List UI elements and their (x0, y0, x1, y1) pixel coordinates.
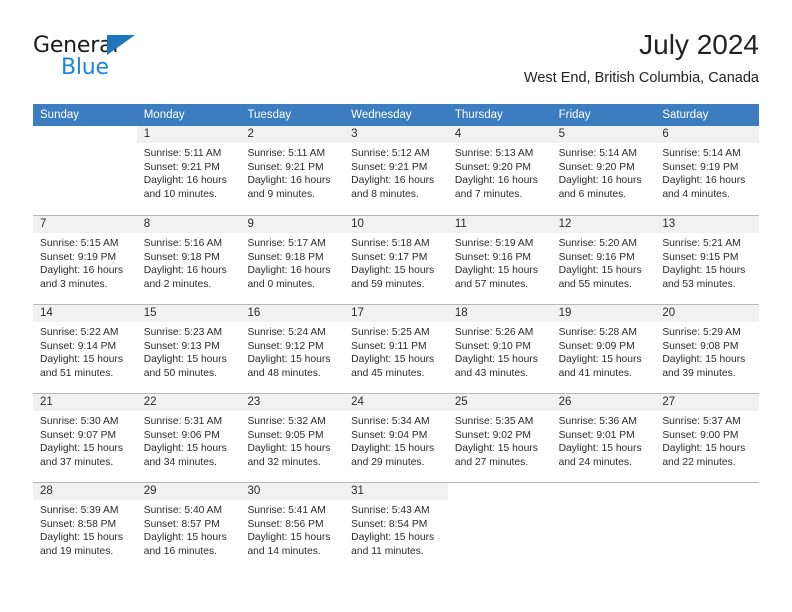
sunset-text: Sunset: 9:16 PM (559, 251, 650, 265)
day-number-band: 30 (240, 483, 344, 500)
day-sun-info: Sunrise: 5:21 AMSunset: 9:15 PMDaylight:… (655, 233, 759, 291)
day-number-band: 1 (137, 126, 241, 143)
daylight-text-line2: and 39 minutes. (662, 367, 753, 381)
day-sun-info: Sunrise: 5:39 AMSunset: 8:58 PMDaylight:… (33, 500, 137, 558)
day-sun-info: Sunrise: 5:34 AMSunset: 9:04 PMDaylight:… (344, 411, 448, 469)
daylight-text-line1: Daylight: 15 hours (40, 531, 131, 545)
day-sun-info: Sunrise: 5:14 AMSunset: 9:20 PMDaylight:… (552, 143, 656, 201)
calendar-page: General Blue July 2024 West End, British… (0, 0, 792, 612)
calendar-weeks: 1Sunrise: 5:11 AMSunset: 9:21 PMDaylight… (33, 126, 759, 571)
calendar-day-cell[interactable]: 29Sunrise: 5:40 AMSunset: 8:57 PMDayligh… (137, 483, 241, 571)
day-sun-info: Sunrise: 5:29 AMSunset: 9:08 PMDaylight:… (655, 322, 759, 380)
sunset-text: Sunset: 9:21 PM (247, 161, 338, 175)
calendar-day-cell[interactable]: 2Sunrise: 5:11 AMSunset: 9:21 PMDaylight… (240, 126, 344, 215)
sunset-text: Sunset: 9:18 PM (144, 251, 235, 265)
day-number: 17 (344, 305, 448, 322)
daylight-text-line2: and 50 minutes. (144, 367, 235, 381)
day-number-band: 11 (448, 216, 552, 233)
daylight-text-line2: and 34 minutes. (144, 456, 235, 470)
day-sun-info: Sunrise: 5:24 AMSunset: 9:12 PMDaylight:… (240, 322, 344, 380)
sunrise-text: Sunrise: 5:39 AM (40, 504, 131, 518)
daylight-text-line2: and 45 minutes. (351, 367, 442, 381)
weekday-header-row: Sunday Monday Tuesday Wednesday Thursday… (33, 104, 759, 126)
daylight-text-line2: and 51 minutes. (40, 367, 131, 381)
calendar-day-cell[interactable]: 1Sunrise: 5:11 AMSunset: 9:21 PMDaylight… (137, 126, 241, 215)
sunset-text: Sunset: 8:54 PM (351, 518, 442, 532)
day-number: 9 (240, 216, 344, 233)
calendar-day-cell[interactable]: 23Sunrise: 5:32 AMSunset: 9:05 PMDayligh… (240, 394, 344, 482)
day-number: 12 (552, 216, 656, 233)
day-number: 10 (344, 216, 448, 233)
day-number: 3 (344, 126, 448, 143)
daylight-text-line1: Daylight: 16 hours (247, 174, 338, 188)
day-number-band: 6 (655, 126, 759, 143)
day-number-band: 19 (552, 305, 656, 322)
logo-triangle-icon (107, 35, 135, 55)
day-number: 16 (240, 305, 344, 322)
calendar-day-cell[interactable]: 30Sunrise: 5:41 AMSunset: 8:56 PMDayligh… (240, 483, 344, 571)
sunset-text: Sunset: 9:06 PM (144, 429, 235, 443)
daylight-text-line2: and 2 minutes. (144, 278, 235, 292)
sunset-text: Sunset: 9:11 PM (351, 340, 442, 354)
daylight-text-line2: and 27 minutes. (455, 456, 546, 470)
day-number: 30 (240, 483, 344, 500)
daylight-text-line1: Daylight: 15 hours (351, 531, 442, 545)
daylight-text-line2: and 55 minutes. (559, 278, 650, 292)
daylight-text-line2: and 37 minutes. (40, 456, 131, 470)
sunset-text: Sunset: 9:15 PM (662, 251, 753, 265)
day-sun-info: Sunrise: 5:43 AMSunset: 8:54 PMDaylight:… (344, 500, 448, 558)
day-sun-info: Sunrise: 5:18 AMSunset: 9:17 PMDaylight:… (344, 233, 448, 291)
weekday-header-saturday: Saturday (655, 104, 759, 126)
sunrise-text: Sunrise: 5:36 AM (559, 415, 650, 429)
sunrise-text: Sunrise: 5:30 AM (40, 415, 131, 429)
calendar-day-cell[interactable]: 4Sunrise: 5:13 AMSunset: 9:20 PMDaylight… (448, 126, 552, 215)
sunset-text: Sunset: 9:19 PM (40, 251, 131, 265)
day-number: 22 (137, 394, 241, 411)
daylight-text-line2: and 19 minutes. (40, 545, 131, 559)
day-number: 31 (344, 483, 448, 500)
calendar-grid: Sunday Monday Tuesday Wednesday Thursday… (33, 104, 759, 571)
sunset-text: Sunset: 9:07 PM (40, 429, 131, 443)
day-number-band: 3 (344, 126, 448, 143)
sunrise-text: Sunrise: 5:13 AM (455, 147, 546, 161)
daylight-text-line2: and 3 minutes. (40, 278, 131, 292)
sunrise-text: Sunrise: 5:14 AM (662, 147, 753, 161)
calendar-day-cell[interactable]: 20Sunrise: 5:29 AMSunset: 9:08 PMDayligh… (655, 305, 759, 393)
sunrise-text: Sunrise: 5:16 AM (144, 237, 235, 251)
daylight-text-line1: Daylight: 15 hours (40, 442, 131, 456)
sunset-text: Sunset: 9:19 PM (662, 161, 753, 175)
day-number-band: 10 (344, 216, 448, 233)
day-sun-info: Sunrise: 5:31 AMSunset: 9:06 PMDaylight:… (137, 411, 241, 469)
daylight-text-line1: Daylight: 15 hours (662, 442, 753, 456)
day-number: 29 (137, 483, 241, 500)
sunset-text: Sunset: 9:04 PM (351, 429, 442, 443)
calendar-day-cell[interactable]: 11Sunrise: 5:19 AMSunset: 9:16 PMDayligh… (448, 216, 552, 304)
day-number-band: 29 (137, 483, 241, 500)
daylight-text-line1: Daylight: 15 hours (40, 353, 131, 367)
day-number: 2 (240, 126, 344, 143)
day-sun-info: Sunrise: 5:40 AMSunset: 8:57 PMDaylight:… (137, 500, 241, 558)
sunrise-text: Sunrise: 5:28 AM (559, 326, 650, 340)
day-sun-info: Sunrise: 5:37 AMSunset: 9:00 PMDaylight:… (655, 411, 759, 469)
day-number: 23 (240, 394, 344, 411)
daylight-text-line1: Daylight: 15 hours (247, 442, 338, 456)
title-block: July 2024 West End, British Columbia, Ca… (524, 28, 759, 88)
day-sun-info: Sunrise: 5:41 AMSunset: 8:56 PMDaylight:… (240, 500, 344, 558)
sunrise-text: Sunrise: 5:11 AM (144, 147, 235, 161)
daylight-text-line2: and 48 minutes. (247, 367, 338, 381)
day-number-band: 2 (240, 126, 344, 143)
sunrise-text: Sunrise: 5:43 AM (351, 504, 442, 518)
day-number: 7 (33, 216, 137, 233)
calendar-day-cell[interactable]: 3Sunrise: 5:12 AMSunset: 9:21 PMDaylight… (344, 126, 448, 215)
day-number: 11 (448, 216, 552, 233)
calendar-week-row: 1Sunrise: 5:11 AMSunset: 9:21 PMDaylight… (33, 126, 759, 215)
calendar-day-cell[interactable]: 13Sunrise: 5:21 AMSunset: 9:15 PMDayligh… (655, 216, 759, 304)
sunset-text: Sunset: 9:14 PM (40, 340, 131, 354)
sunrise-text: Sunrise: 5:24 AM (247, 326, 338, 340)
daylight-text-line2: and 29 minutes. (351, 456, 442, 470)
day-sun-info: Sunrise: 5:36 AMSunset: 9:01 PMDaylight:… (552, 411, 656, 469)
day-number: 27 (655, 394, 759, 411)
sunset-text: Sunset: 9:21 PM (144, 161, 235, 175)
sunrise-text: Sunrise: 5:21 AM (662, 237, 753, 251)
sunset-text: Sunset: 9:17 PM (351, 251, 442, 265)
daylight-text-line2: and 16 minutes. (144, 545, 235, 559)
day-sun-info: Sunrise: 5:13 AMSunset: 9:20 PMDaylight:… (448, 143, 552, 201)
sunrise-text: Sunrise: 5:17 AM (247, 237, 338, 251)
daylight-text-line1: Daylight: 15 hours (455, 353, 546, 367)
daylight-text-line2: and 57 minutes. (455, 278, 546, 292)
sunrise-text: Sunrise: 5:25 AM (351, 326, 442, 340)
calendar-day-cell[interactable]: 8Sunrise: 5:16 AMSunset: 9:18 PMDaylight… (137, 216, 241, 304)
sunrise-text: Sunrise: 5:32 AM (247, 415, 338, 429)
day-number-band: 18 (448, 305, 552, 322)
day-number-band: 23 (240, 394, 344, 411)
sunrise-text: Sunrise: 5:18 AM (351, 237, 442, 251)
day-number-band: 12 (552, 216, 656, 233)
day-number-band: 27 (655, 394, 759, 411)
day-number: 19 (552, 305, 656, 322)
daylight-text-line1: Daylight: 16 hours (455, 174, 546, 188)
day-sun-info: Sunrise: 5:15 AMSunset: 9:19 PMDaylight:… (33, 233, 137, 291)
day-number-band: 26 (552, 394, 656, 411)
daylight-text-line2: and 41 minutes. (559, 367, 650, 381)
sunset-text: Sunset: 9:18 PM (247, 251, 338, 265)
day-number-band: 25 (448, 394, 552, 411)
day-number: 1 (137, 126, 241, 143)
day-number: 5 (552, 126, 656, 143)
daylight-text-line2: and 7 minutes. (455, 188, 546, 202)
sunset-text: Sunset: 9:20 PM (455, 161, 546, 175)
sunrise-text: Sunrise: 5:14 AM (559, 147, 650, 161)
calendar-day-cell[interactable]: 18Sunrise: 5:26 AMSunset: 9:10 PMDayligh… (448, 305, 552, 393)
daylight-text-line2: and 59 minutes. (351, 278, 442, 292)
calendar-day-cell[interactable]: 27Sunrise: 5:37 AMSunset: 9:00 PMDayligh… (655, 394, 759, 482)
day-sun-info: Sunrise: 5:22 AMSunset: 9:14 PMDaylight:… (33, 322, 137, 380)
day-number-band: 24 (344, 394, 448, 411)
calendar-day-cell[interactable]: 15Sunrise: 5:23 AMSunset: 9:13 PMDayligh… (137, 305, 241, 393)
daylight-text-line2: and 8 minutes. (351, 188, 442, 202)
daylight-text-line1: Daylight: 15 hours (559, 353, 650, 367)
sunrise-text: Sunrise: 5:11 AM (247, 147, 338, 161)
day-number-band: 28 (33, 483, 137, 500)
daylight-text-line1: Daylight: 16 hours (662, 174, 753, 188)
calendar-day-cell[interactable]: 5Sunrise: 5:14 AMSunset: 9:20 PMDaylight… (552, 126, 656, 215)
calendar-day-cell[interactable]: 19Sunrise: 5:28 AMSunset: 9:09 PMDayligh… (552, 305, 656, 393)
sunset-text: Sunset: 9:16 PM (455, 251, 546, 265)
sunset-text: Sunset: 8:58 PM (40, 518, 131, 532)
weekday-header-tuesday: Tuesday (240, 104, 344, 126)
day-number: 26 (552, 394, 656, 411)
calendar-day-cell[interactable]: 6Sunrise: 5:14 AMSunset: 9:19 PMDaylight… (655, 126, 759, 215)
daylight-text-line2: and 11 minutes. (351, 545, 442, 559)
day-number-band: 17 (344, 305, 448, 322)
day-number-band (33, 126, 137, 143)
daylight-text-line1: Daylight: 15 hours (144, 353, 235, 367)
daylight-text-line2: and 14 minutes. (247, 545, 338, 559)
day-sun-info: Sunrise: 5:32 AMSunset: 9:05 PMDaylight:… (240, 411, 344, 469)
page-subtitle: West End, British Columbia, Canada (524, 68, 759, 88)
daylight-text-line1: Daylight: 15 hours (559, 264, 650, 278)
day-number: 20 (655, 305, 759, 322)
day-number: 15 (137, 305, 241, 322)
day-sun-info: Sunrise: 5:19 AMSunset: 9:16 PMDaylight:… (448, 233, 552, 291)
sunset-text: Sunset: 8:57 PM (144, 518, 235, 532)
daylight-text-line1: Daylight: 15 hours (662, 353, 753, 367)
calendar-day-cell[interactable]: 31Sunrise: 5:43 AMSunset: 8:54 PMDayligh… (344, 483, 448, 571)
calendar-day-cell[interactable]: 21Sunrise: 5:30 AMSunset: 9:07 PMDayligh… (33, 394, 137, 482)
day-number-band: 15 (137, 305, 241, 322)
day-sun-info: Sunrise: 5:23 AMSunset: 9:13 PMDaylight:… (137, 322, 241, 380)
day-number-band: 5 (552, 126, 656, 143)
daylight-text-line1: Daylight: 15 hours (144, 531, 235, 545)
daylight-text-line2: and 32 minutes. (247, 456, 338, 470)
calendar-day-cell[interactable]: 16Sunrise: 5:24 AMSunset: 9:12 PMDayligh… (240, 305, 344, 393)
day-sun-info: Sunrise: 5:12 AMSunset: 9:21 PMDaylight:… (344, 143, 448, 201)
sunrise-text: Sunrise: 5:15 AM (40, 237, 131, 251)
calendar-day-cell-empty (33, 126, 137, 215)
sunset-text: Sunset: 9:05 PM (247, 429, 338, 443)
daylight-text-line2: and 9 minutes. (247, 188, 338, 202)
sunrise-text: Sunrise: 5:12 AM (351, 147, 442, 161)
daylight-text-line1: Daylight: 15 hours (455, 264, 546, 278)
day-sun-info: Sunrise: 5:28 AMSunset: 9:09 PMDaylight:… (552, 322, 656, 380)
calendar-day-cell-empty (655, 483, 759, 571)
day-number-band: 8 (137, 216, 241, 233)
day-number-band: 20 (655, 305, 759, 322)
calendar-week-row: 7Sunrise: 5:15 AMSunset: 9:19 PMDaylight… (33, 215, 759, 304)
day-number: 28 (33, 483, 137, 500)
sunset-text: Sunset: 9:10 PM (455, 340, 546, 354)
daylight-text-line1: Daylight: 15 hours (351, 353, 442, 367)
day-number: 24 (344, 394, 448, 411)
daylight-text-line1: Daylight: 15 hours (144, 442, 235, 456)
sunrise-text: Sunrise: 5:35 AM (455, 415, 546, 429)
calendar-day-cell[interactable]: 24Sunrise: 5:34 AMSunset: 9:04 PMDayligh… (344, 394, 448, 482)
day-number-band: 14 (33, 305, 137, 322)
sunrise-text: Sunrise: 5:26 AM (455, 326, 546, 340)
daylight-text-line2: and 6 minutes. (559, 188, 650, 202)
daylight-text-line2: and 0 minutes. (247, 278, 338, 292)
general-blue-logo[interactable]: General Blue (33, 34, 233, 90)
day-number-band: 16 (240, 305, 344, 322)
day-number: 8 (137, 216, 241, 233)
day-number-band (552, 483, 656, 500)
day-sun-info: Sunrise: 5:11 AMSunset: 9:21 PMDaylight:… (137, 143, 241, 201)
calendar-day-cell[interactable]: 7Sunrise: 5:15 AMSunset: 9:19 PMDaylight… (33, 216, 137, 304)
daylight-text-line1: Daylight: 15 hours (247, 353, 338, 367)
calendar-day-cell[interactable]: 12Sunrise: 5:20 AMSunset: 9:16 PMDayligh… (552, 216, 656, 304)
sunset-text: Sunset: 8:56 PM (247, 518, 338, 532)
day-number: 25 (448, 394, 552, 411)
sunset-text: Sunset: 9:01 PM (559, 429, 650, 443)
daylight-text-line1: Daylight: 15 hours (351, 264, 442, 278)
day-number-band (448, 483, 552, 500)
calendar-day-cell-empty (552, 483, 656, 571)
calendar-day-cell[interactable]: 14Sunrise: 5:22 AMSunset: 9:14 PMDayligh… (33, 305, 137, 393)
day-number-band: 31 (344, 483, 448, 500)
sunrise-text: Sunrise: 5:40 AM (144, 504, 235, 518)
day-sun-info: Sunrise: 5:26 AMSunset: 9:10 PMDaylight:… (448, 322, 552, 380)
weekday-header-friday: Friday (552, 104, 656, 126)
calendar-day-cell[interactable]: 17Sunrise: 5:25 AMSunset: 9:11 PMDayligh… (344, 305, 448, 393)
calendar-day-cell[interactable]: 22Sunrise: 5:31 AMSunset: 9:06 PMDayligh… (137, 394, 241, 482)
day-sun-info: Sunrise: 5:20 AMSunset: 9:16 PMDaylight:… (552, 233, 656, 291)
daylight-text-line2: and 22 minutes. (662, 456, 753, 470)
calendar-day-cell[interactable]: 10Sunrise: 5:18 AMSunset: 9:17 PMDayligh… (344, 216, 448, 304)
day-number: 14 (33, 305, 137, 322)
weekday-header-wednesday: Wednesday (344, 104, 448, 126)
day-number-band: 7 (33, 216, 137, 233)
weekday-header-sunday: Sunday (33, 104, 137, 126)
sunset-text: Sunset: 9:08 PM (662, 340, 753, 354)
daylight-text-line2: and 4 minutes. (662, 188, 753, 202)
page-title: July 2024 (524, 28, 759, 62)
calendar-day-cell[interactable]: 26Sunrise: 5:36 AMSunset: 9:01 PMDayligh… (552, 394, 656, 482)
day-number-band (655, 483, 759, 500)
day-number: 13 (655, 216, 759, 233)
daylight-text-line1: Daylight: 16 hours (144, 174, 235, 188)
sunrise-text: Sunrise: 5:41 AM (247, 504, 338, 518)
day-number: 21 (33, 394, 137, 411)
day-sun-info: Sunrise: 5:11 AMSunset: 9:21 PMDaylight:… (240, 143, 344, 201)
daylight-text-line1: Daylight: 15 hours (247, 531, 338, 545)
daylight-text-line1: Daylight: 15 hours (662, 264, 753, 278)
sunrise-text: Sunrise: 5:34 AM (351, 415, 442, 429)
calendar-day-cell-empty (448, 483, 552, 571)
daylight-text-line2: and 10 minutes. (144, 188, 235, 202)
daylight-text-line1: Daylight: 15 hours (559, 442, 650, 456)
day-number: 4 (448, 126, 552, 143)
day-sun-info: Sunrise: 5:14 AMSunset: 9:19 PMDaylight:… (655, 143, 759, 201)
sunset-text: Sunset: 9:02 PM (455, 429, 546, 443)
sunrise-text: Sunrise: 5:37 AM (662, 415, 753, 429)
sunrise-text: Sunrise: 5:20 AM (559, 237, 650, 251)
day-sun-info: Sunrise: 5:30 AMSunset: 9:07 PMDaylight:… (33, 411, 137, 469)
sunrise-text: Sunrise: 5:31 AM (144, 415, 235, 429)
logo-text-blue: Blue (61, 56, 109, 80)
sunset-text: Sunset: 9:13 PM (144, 340, 235, 354)
sunset-text: Sunset: 9:12 PM (247, 340, 338, 354)
day-sun-info: Sunrise: 5:35 AMSunset: 9:02 PMDaylight:… (448, 411, 552, 469)
calendar-week-row: 28Sunrise: 5:39 AMSunset: 8:58 PMDayligh… (33, 482, 759, 571)
sunrise-text: Sunrise: 5:23 AM (144, 326, 235, 340)
daylight-text-line1: Daylight: 15 hours (351, 442, 442, 456)
daylight-text-line2: and 53 minutes. (662, 278, 753, 292)
day-number: 18 (448, 305, 552, 322)
calendar-day-cell[interactable]: 25Sunrise: 5:35 AMSunset: 9:02 PMDayligh… (448, 394, 552, 482)
daylight-text-line1: Daylight: 16 hours (351, 174, 442, 188)
day-sun-info: Sunrise: 5:25 AMSunset: 9:11 PMDaylight:… (344, 322, 448, 380)
sunset-text: Sunset: 9:00 PM (662, 429, 753, 443)
day-number: 6 (655, 126, 759, 143)
day-number-band: 22 (137, 394, 241, 411)
day-number-band: 4 (448, 126, 552, 143)
sunrise-text: Sunrise: 5:19 AM (455, 237, 546, 251)
daylight-text-line2: and 43 minutes. (455, 367, 546, 381)
sunset-text: Sunset: 9:20 PM (559, 161, 650, 175)
calendar-day-cell[interactable]: 28Sunrise: 5:39 AMSunset: 8:58 PMDayligh… (33, 483, 137, 571)
day-number-band: 21 (33, 394, 137, 411)
page-header: General Blue July 2024 West End, British… (33, 28, 759, 100)
calendar-day-cell[interactable]: 9Sunrise: 5:17 AMSunset: 9:18 PMDaylight… (240, 216, 344, 304)
daylight-text-line1: Daylight: 15 hours (455, 442, 546, 456)
weekday-header-monday: Monday (137, 104, 241, 126)
day-sun-info: Sunrise: 5:16 AMSunset: 9:18 PMDaylight:… (137, 233, 241, 291)
sunset-text: Sunset: 9:21 PM (351, 161, 442, 175)
daylight-text-line2: and 24 minutes. (559, 456, 650, 470)
daylight-text-line1: Daylight: 16 hours (40, 264, 131, 278)
daylight-text-line1: Daylight: 16 hours (144, 264, 235, 278)
calendar-week-row: 21Sunrise: 5:30 AMSunset: 9:07 PMDayligh… (33, 393, 759, 482)
sunrise-text: Sunrise: 5:22 AM (40, 326, 131, 340)
daylight-text-line1: Daylight: 16 hours (247, 264, 338, 278)
sunrise-text: Sunrise: 5:29 AM (662, 326, 753, 340)
day-number-band: 13 (655, 216, 759, 233)
daylight-text-line1: Daylight: 16 hours (559, 174, 650, 188)
day-number-band: 9 (240, 216, 344, 233)
calendar-week-row: 14Sunrise: 5:22 AMSunset: 9:14 PMDayligh… (33, 304, 759, 393)
sunset-text: Sunset: 9:09 PM (559, 340, 650, 354)
day-sun-info: Sunrise: 5:17 AMSunset: 9:18 PMDaylight:… (240, 233, 344, 291)
weekday-header-thursday: Thursday (448, 104, 552, 126)
